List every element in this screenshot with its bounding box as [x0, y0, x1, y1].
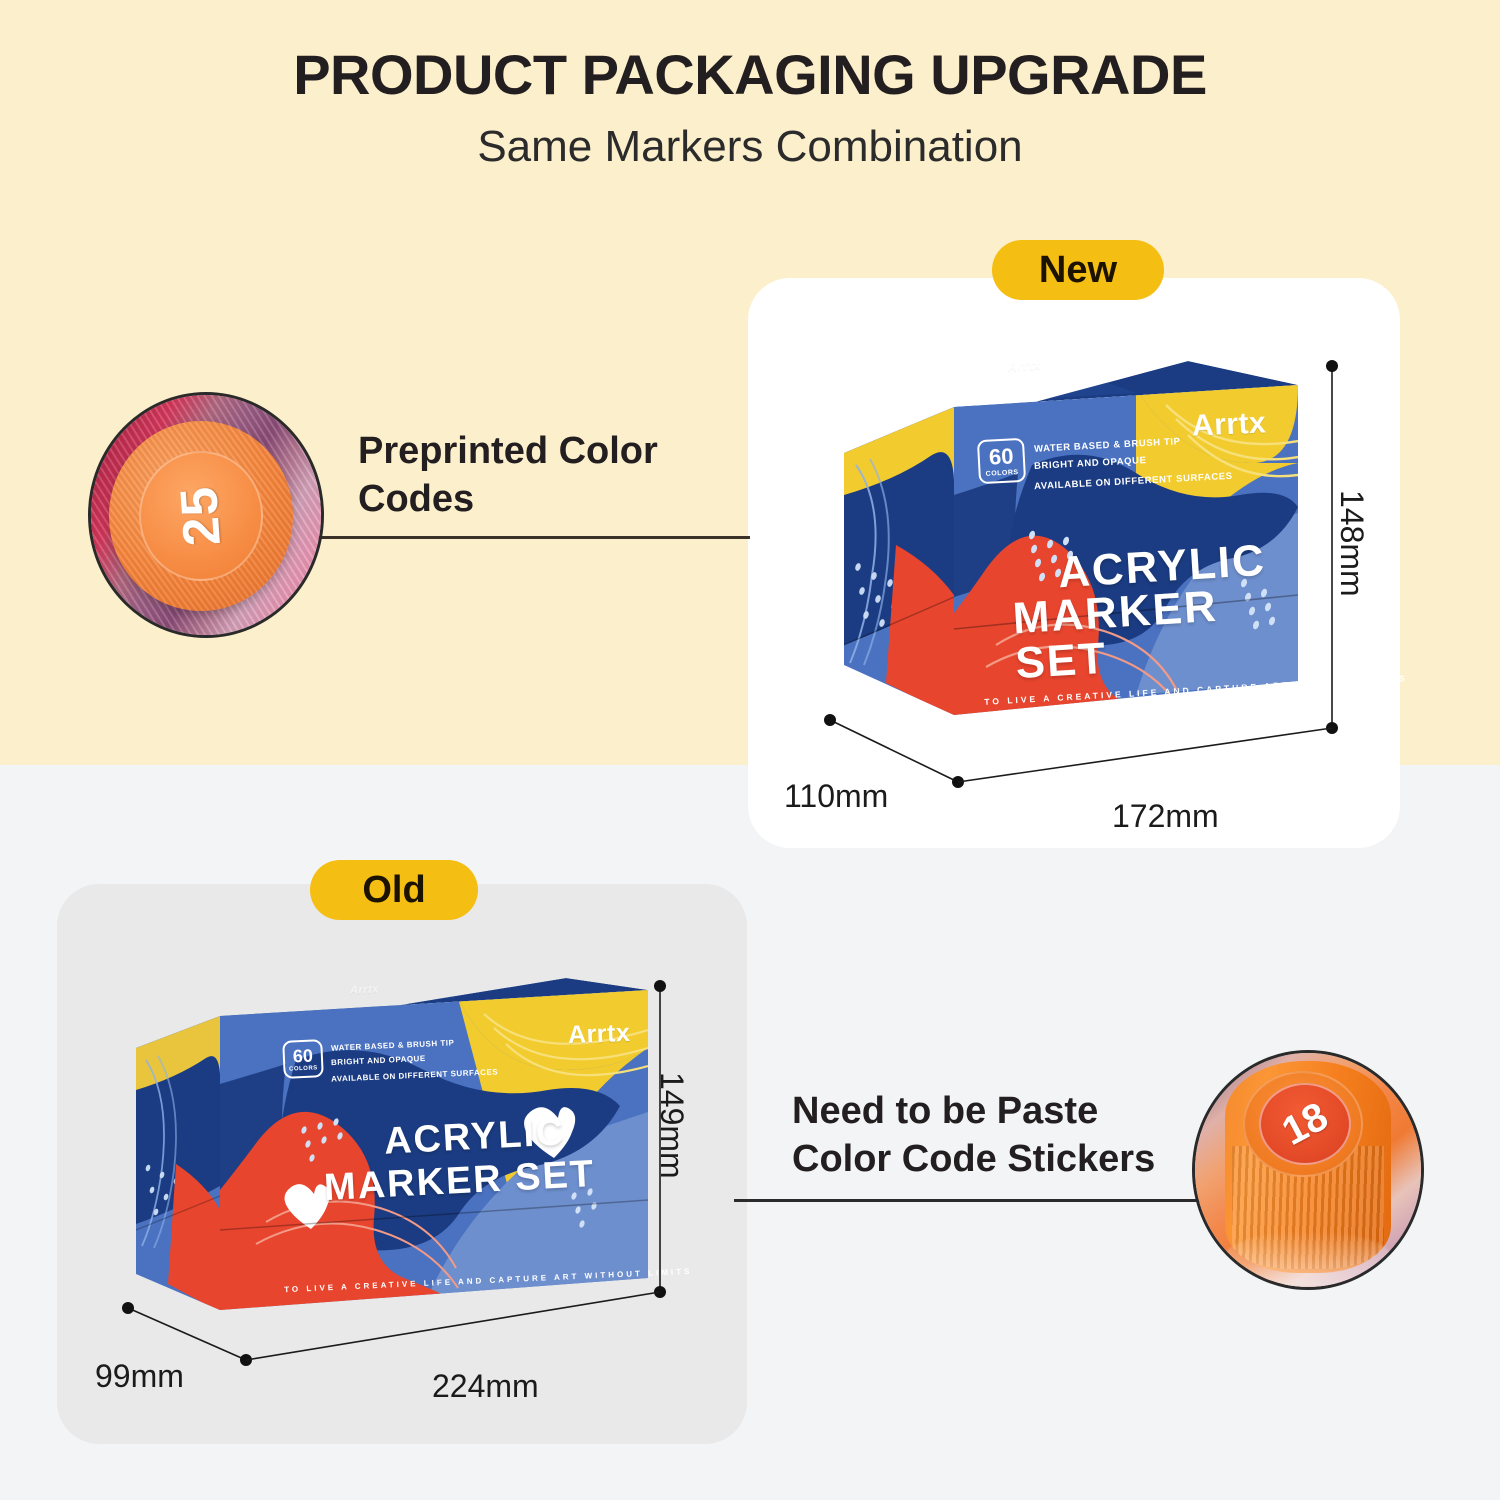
marker-cap-old-rim-highlight [1223, 1231, 1393, 1287]
marker-cap-photo-old: 18 [1192, 1050, 1424, 1290]
old-box-brand: Arrtx [568, 1019, 631, 1050]
badge-new: New [992, 240, 1164, 300]
new-box-colors-word: COLORS [985, 469, 1018, 478]
badge-old: Old [310, 860, 478, 920]
new-box-height-label: 148mm [1333, 490, 1370, 597]
old-callout-connector-line [734, 1199, 1204, 1202]
old-box-width-label: 224mm [432, 1368, 539, 1405]
new-callout-label: Preprinted Color Codes [358, 428, 718, 524]
page-subtitle: Same Markers Combination [0, 122, 1500, 172]
new-box-brand: Arrtx [1191, 406, 1267, 443]
new-box-lid-brand: Arrtx [1007, 357, 1043, 375]
page-title: PRODUCT PACKAGING UPGRADE [0, 42, 1500, 107]
infographic-canvas: PRODUCT PACKAGING UPGRADE Same Markers C… [0, 0, 1500, 1500]
marker-cap-old-number: 18 [1275, 1094, 1335, 1155]
new-box-title-line2: MARKER SET [1012, 579, 1319, 687]
marker-cap-new-inner-disc: 25 [139, 451, 263, 581]
new-box-width-label: 172mm [1112, 798, 1219, 835]
new-callout-connector-line [312, 536, 750, 539]
marker-cap-photo-new: 25 [88, 392, 324, 638]
marker-cap-new-number: 25 [169, 484, 233, 548]
old-box-depth-label: 99mm [95, 1358, 184, 1395]
old-box-title-line1: ACRYLIC [383, 1113, 566, 1161]
marker-cap-old-sticker: 18 [1259, 1083, 1351, 1165]
marker-cap-new-outer-ring: 25 [109, 421, 293, 611]
new-box-depth-label: 110mm [784, 778, 888, 815]
old-box-lid-brand: Arrtx [349, 983, 380, 997]
old-box-colors-count: 60 [292, 1046, 313, 1065]
new-product-box: Arrtx Arrtx 60 COLORS WATER BASED & BRUS… [836, 345, 1316, 745]
new-box-colors-count: 60 [988, 445, 1014, 468]
new-box-colors-badge: 60 COLORS [977, 438, 1026, 484]
old-box-colors-badge: 60 COLORS [282, 1039, 324, 1079]
old-callout-label: Need to be Paste Color Code Stickers [792, 1088, 1192, 1184]
old-box-height-label: 149mm [653, 1072, 690, 1179]
old-box-colors-word: COLORS [289, 1065, 318, 1072]
old-product-box: Arrtx Arrtx 60 COLORS WATER BASED & BRUS… [128, 978, 673, 1333]
